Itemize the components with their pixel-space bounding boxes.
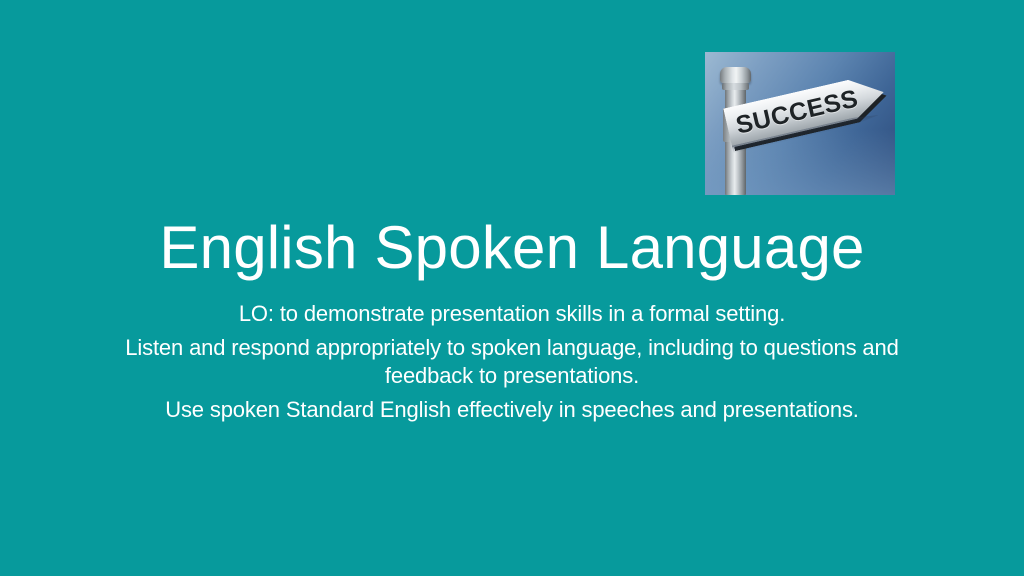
body-line-learning-objective: LO: to demonstrate presentation skills i… <box>112 300 912 328</box>
success-signpost-image: SUCCESS <box>705 52 895 195</box>
title-placeholder: English Spoken Language <box>112 216 912 280</box>
body-line-standard-english: Use spoken Standard English effectively … <box>112 396 912 424</box>
body-line-listen-and-respond: Listen and respond appropriately to spok… <box>112 334 912 390</box>
sign-label-success: SUCCESS <box>734 86 861 138</box>
body-placeholder: LO: to demonstrate presentation skills i… <box>112 300 912 425</box>
presentation-slide: SUCCESS English Spoken Language LO: to d… <box>0 0 1024 576</box>
slide-title: English Spoken Language <box>112 216 912 280</box>
